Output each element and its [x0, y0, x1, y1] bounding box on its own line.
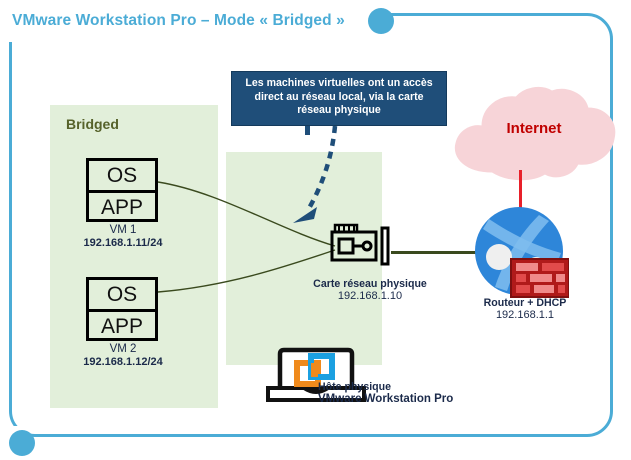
vm-2-box: OS APP	[86, 277, 158, 341]
router-globe-icon	[473, 205, 569, 301]
vm-2-caption: VM 2 192.168.1.12/24	[33, 343, 213, 368]
diagram-canvas: VMware Workstation Pro – Mode « Bridged …	[0, 0, 631, 460]
callout-arrow-icon	[280, 124, 370, 236]
host-product: VMware Workstation Pro	[318, 393, 518, 405]
router-caption: Routeur + DHCP 192.168.1.1	[440, 297, 610, 321]
router-name: Routeur + DHCP	[440, 297, 610, 309]
host-caption: Hôte physique VMware Workstation Pro	[318, 381, 518, 405]
vm-1-app-label: APP	[89, 193, 155, 222]
lan-wire	[391, 251, 486, 254]
network-card-name: Carte réseau physique	[275, 278, 465, 290]
vm-2-name: VM 2	[33, 343, 213, 355]
network-card-icon	[330, 222, 400, 270]
callout-box: Les machines virtuelles ont un accès dir…	[231, 71, 447, 126]
vm-1-box: OS APP	[86, 158, 158, 222]
vm-2-os-label: OS	[89, 280, 155, 312]
vm-2-app-label: APP	[89, 312, 155, 341]
bridged-zone-label: Bridged	[66, 116, 119, 132]
page-title: VMware Workstation Pro – Mode « Bridged …	[12, 12, 372, 30]
frame-dot-bottom-left	[9, 430, 35, 456]
vm-1-os-label: OS	[89, 161, 155, 193]
network-card-ip: 192.168.1.10	[275, 290, 465, 302]
internet-label: Internet	[448, 120, 620, 137]
router-ip: 192.168.1.1	[440, 309, 610, 321]
firewall-icon	[511, 259, 569, 297]
vm-2-ip: 192.168.1.12/24	[33, 356, 213, 368]
host-name: Hôte physique	[318, 381, 518, 393]
network-card-caption: Carte réseau physique 192.168.1.10	[275, 278, 465, 302]
